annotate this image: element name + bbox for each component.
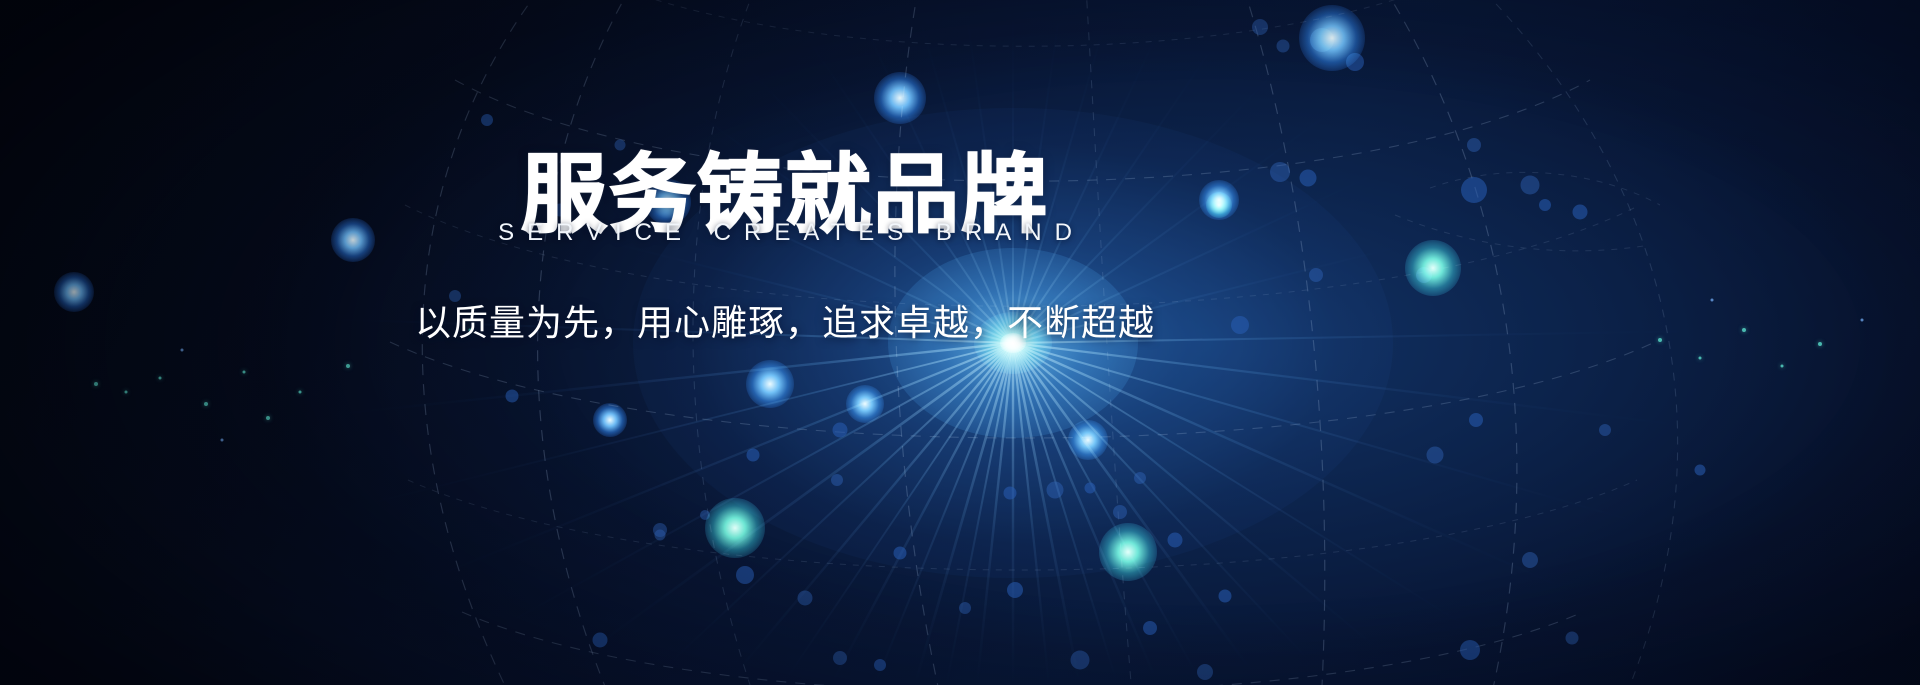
hero-banner: 服务铸就品牌 SERVICE CREATES BRAND 以质量为先，用心雕琢，… [0, 0, 1920, 685]
radial-light-rays [0, 0, 1920, 685]
